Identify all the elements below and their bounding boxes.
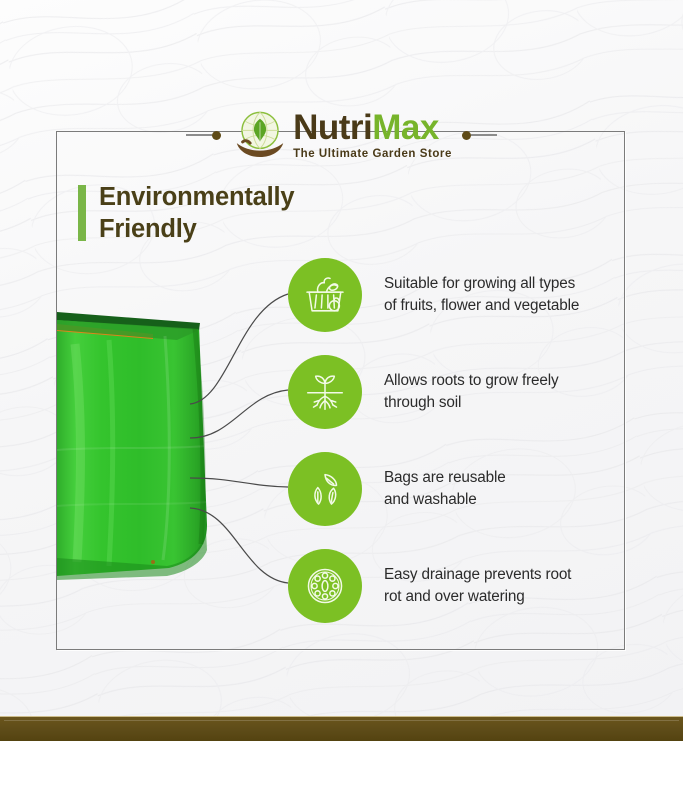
feature-text: Easy drainage prevents root rot and over…: [384, 564, 571, 607]
feature-list: Suitable for growing all types of fruits…: [288, 256, 628, 624]
bottom-white-area: [0, 741, 683, 800]
feature-text: Bags are reusable and washable: [384, 467, 506, 510]
headline-line-1: Environmentally: [99, 181, 294, 213]
drainage-holes-icon: [288, 549, 362, 623]
sprout-roots-icon: [288, 355, 362, 429]
decoration-dot-left: [212, 131, 221, 140]
leaf-in-hand-globe-logo-icon: [231, 106, 289, 164]
brand-text: NutriMax The Ultimate Garden Store: [293, 110, 452, 160]
feature-text-line-1: Allows roots to grow freely: [384, 370, 558, 392]
feature-text-line-2: through soil: [384, 392, 558, 414]
decoration-dot-right: [462, 131, 471, 140]
feature-text-line-1: Bags are reusable: [384, 467, 506, 489]
headline-block: Environmentally Friendly: [78, 181, 294, 246]
decoration-right: [462, 131, 497, 140]
headline-accent-bar: [78, 185, 86, 241]
promo-banner: NutriMax The Ultimate Garden Store Envir…: [0, 0, 683, 800]
brand-name-part1: Nutri: [293, 108, 372, 147]
brand-name-part2: Max: [372, 108, 439, 147]
feature-text-line-1: Suitable for growing all types: [384, 273, 579, 295]
brand-tagline: The Ultimate Garden Store: [293, 148, 452, 160]
headline-text: Environmentally Friendly: [99, 181, 294, 246]
feature-text-line-2: and washable: [384, 489, 506, 511]
green-grow-bag-icon: [57, 300, 209, 595]
decoration-bar-right: [471, 134, 497, 136]
decoration-left: [186, 131, 221, 140]
headline-line-2: Friendly: [99, 213, 294, 245]
brand-header: NutriMax The Ultimate Garden Store: [0, 100, 683, 170]
feature-item: Easy drainage prevents root rot and over…: [288, 547, 628, 624]
feature-item: Suitable for growing all types of fruits…: [288, 256, 628, 333]
bottom-bar-highlight: [4, 720, 679, 721]
feature-text-line-2: rot and over watering: [384, 586, 571, 608]
feature-text-line-1: Easy drainage prevents root: [384, 564, 571, 586]
vegetable-basket-icon: [288, 258, 362, 332]
feature-text: Allows roots to grow freely through soil: [384, 370, 558, 413]
bottom-brown-bar: [0, 716, 683, 742]
feature-text-line-2: of fruits, flower and vegetable: [384, 295, 579, 317]
brand-name: NutriMax: [293, 110, 452, 145]
grow-bag-image: [57, 300, 209, 595]
recycle-leaves-icon: [288, 452, 362, 526]
feature-item: Allows roots to grow freely through soil: [288, 353, 628, 430]
decoration-bar-left: [186, 134, 212, 136]
feature-item: Bags are reusable and washable: [288, 450, 628, 527]
feature-text: Suitable for growing all types of fruits…: [384, 273, 579, 316]
